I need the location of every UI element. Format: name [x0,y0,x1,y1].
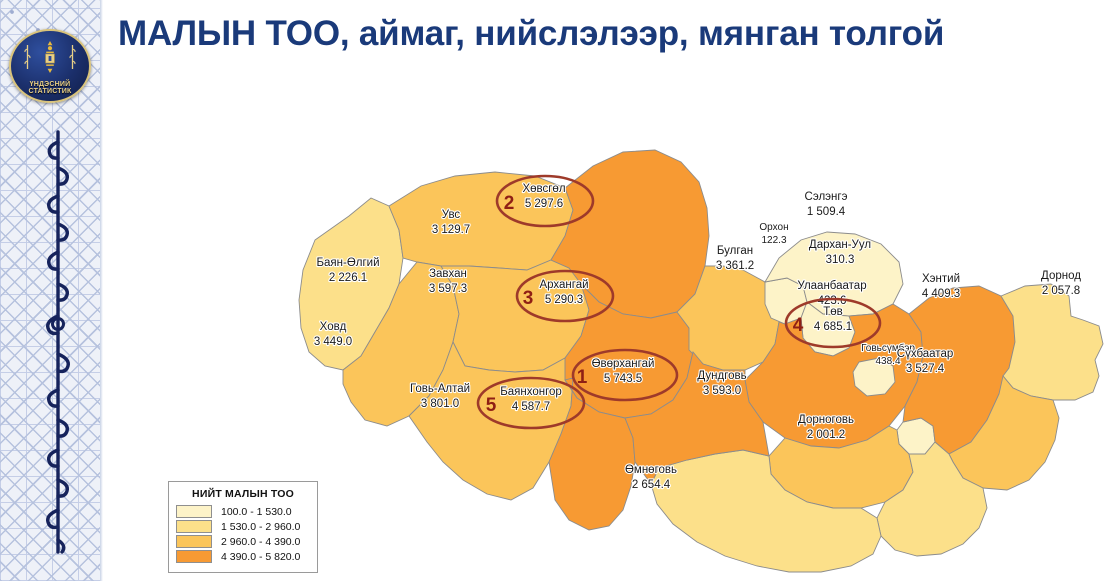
legend-row: 4 390.0 - 5 820.0 [176,550,310,563]
label-khovd: Ховд [320,321,347,333]
label-ulaanbaatar: Улаанбаатар [797,280,866,292]
rank-number-bayankhongor: 5 [486,395,497,416]
legend-label-3: 2 960.0 - 4 390.0 [221,536,300,548]
label-zavkhan: Завхан [429,268,467,280]
label-dornogovi: Дорноговь [798,414,854,426]
value-uvs: 3 129.7 [432,224,470,236]
legend-label-4: 4 390.0 - 5 820.0 [221,551,300,563]
logo-text-line2: СТАТИСТИК [29,88,72,96]
map-legend: НИЙТ МАЛЫН ТОО 100.0 - 1 530.0 1 530.0 -… [168,481,318,573]
value-dornod: 2 057.8 [1042,285,1080,297]
rank-number-ovorkhangai: 1 [577,367,588,388]
region-dornod[interactable] [1001,284,1103,400]
value-orkhon: 122.3 [761,235,786,246]
label-bulgan: Булган [717,245,753,257]
label-khentii: Хэнтий [922,273,960,285]
value-govi-altai: 3 801.0 [421,398,459,410]
label-ovorkhangai: Өвөрхангай [592,358,655,370]
label-khovsgol: Хөвсгөл [522,183,565,195]
rank-number-arkhangai: 3 [523,288,534,309]
label-bayan-olgiy: Баян-Өлгий [316,257,379,269]
value-dornogovi: 2 001.2 [807,429,845,441]
rank-number-tov: 4 [793,315,804,336]
legend-label-2: 1 530.0 - 2 960.0 [221,521,300,533]
label-omnogovi: Өмнөговь [625,464,677,476]
soyombo-icon [40,40,60,74]
value-dundgovi: 3 593.0 [703,385,741,397]
label-orkhon: Орхон [759,222,788,233]
label-darkhan-uul: Дархан-Уул [809,239,871,251]
legend-swatch-4 [176,550,212,563]
legend-label-1: 100.0 - 1 530.0 [221,506,292,518]
value-bayan-olgiy: 2 226.1 [329,272,367,284]
value-sukhbaatar: 3 527.4 [906,363,945,375]
value-khovd: 3 449.0 [314,336,352,348]
value-ovorkhangai: 5 743.5 [604,373,642,385]
label-selenge: Сэлэнгэ [805,191,848,203]
page-title: МАЛЫН ТОО, аймаг, нийслэлээр, мянган тол… [118,14,1108,54]
ornamental-sidebar: ҮНДЭСНИЙ СТАТИСТИК [0,0,103,581]
rank-number-khovsgol: 2 [504,193,515,214]
value-selenge: 1 509.4 [807,206,846,218]
label-tov: Төв [823,306,843,318]
value-darkhan-uul: 310.3 [826,254,855,266]
legend-row: 2 960.0 - 4 390.0 [176,535,310,548]
value-omnogovi: 2 654.4 [632,479,671,491]
label-bayankhongor: Баянхонгор [500,386,562,398]
label-govi-altai: Говь-Алтай [410,383,470,395]
legend-swatch-3 [176,535,212,548]
legend-title: НИЙТ МАЛЫН ТОО [176,488,310,500]
label-arkhangai: Архангай [539,279,588,291]
mongolian-script-left-icon [23,44,32,70]
legend-row: 1 530.0 - 2 960.0 [176,520,310,533]
mongolian-vertical-script [34,128,80,558]
value-arkhangai: 5 290.3 [545,294,583,306]
value-khovsgol: 5 297.6 [525,198,563,210]
value-tov: 4 685.1 [814,321,852,333]
mongolian-script-right-icon [68,44,77,70]
national-statistics-logo: ҮНДЭСНИЙ СТАТИСТИК [9,29,91,103]
label-sukhbaatar: Сүхбаатар [897,348,953,360]
legend-row: 100.0 - 1 530.0 [176,505,310,518]
label-uvs: Увс [442,209,461,221]
value-bulgan: 3 361.2 [716,260,754,272]
value-bayankhongor: 4 587.7 [512,401,550,413]
legend-swatch-2 [176,520,212,533]
label-dornod: Дорнод [1041,270,1081,282]
value-zavkhan: 3 597.3 [429,283,467,295]
label-dundgovi: Дундговь [697,370,746,382]
legend-swatch-1 [176,505,212,518]
value-khentii: 4 409.3 [922,288,960,300]
